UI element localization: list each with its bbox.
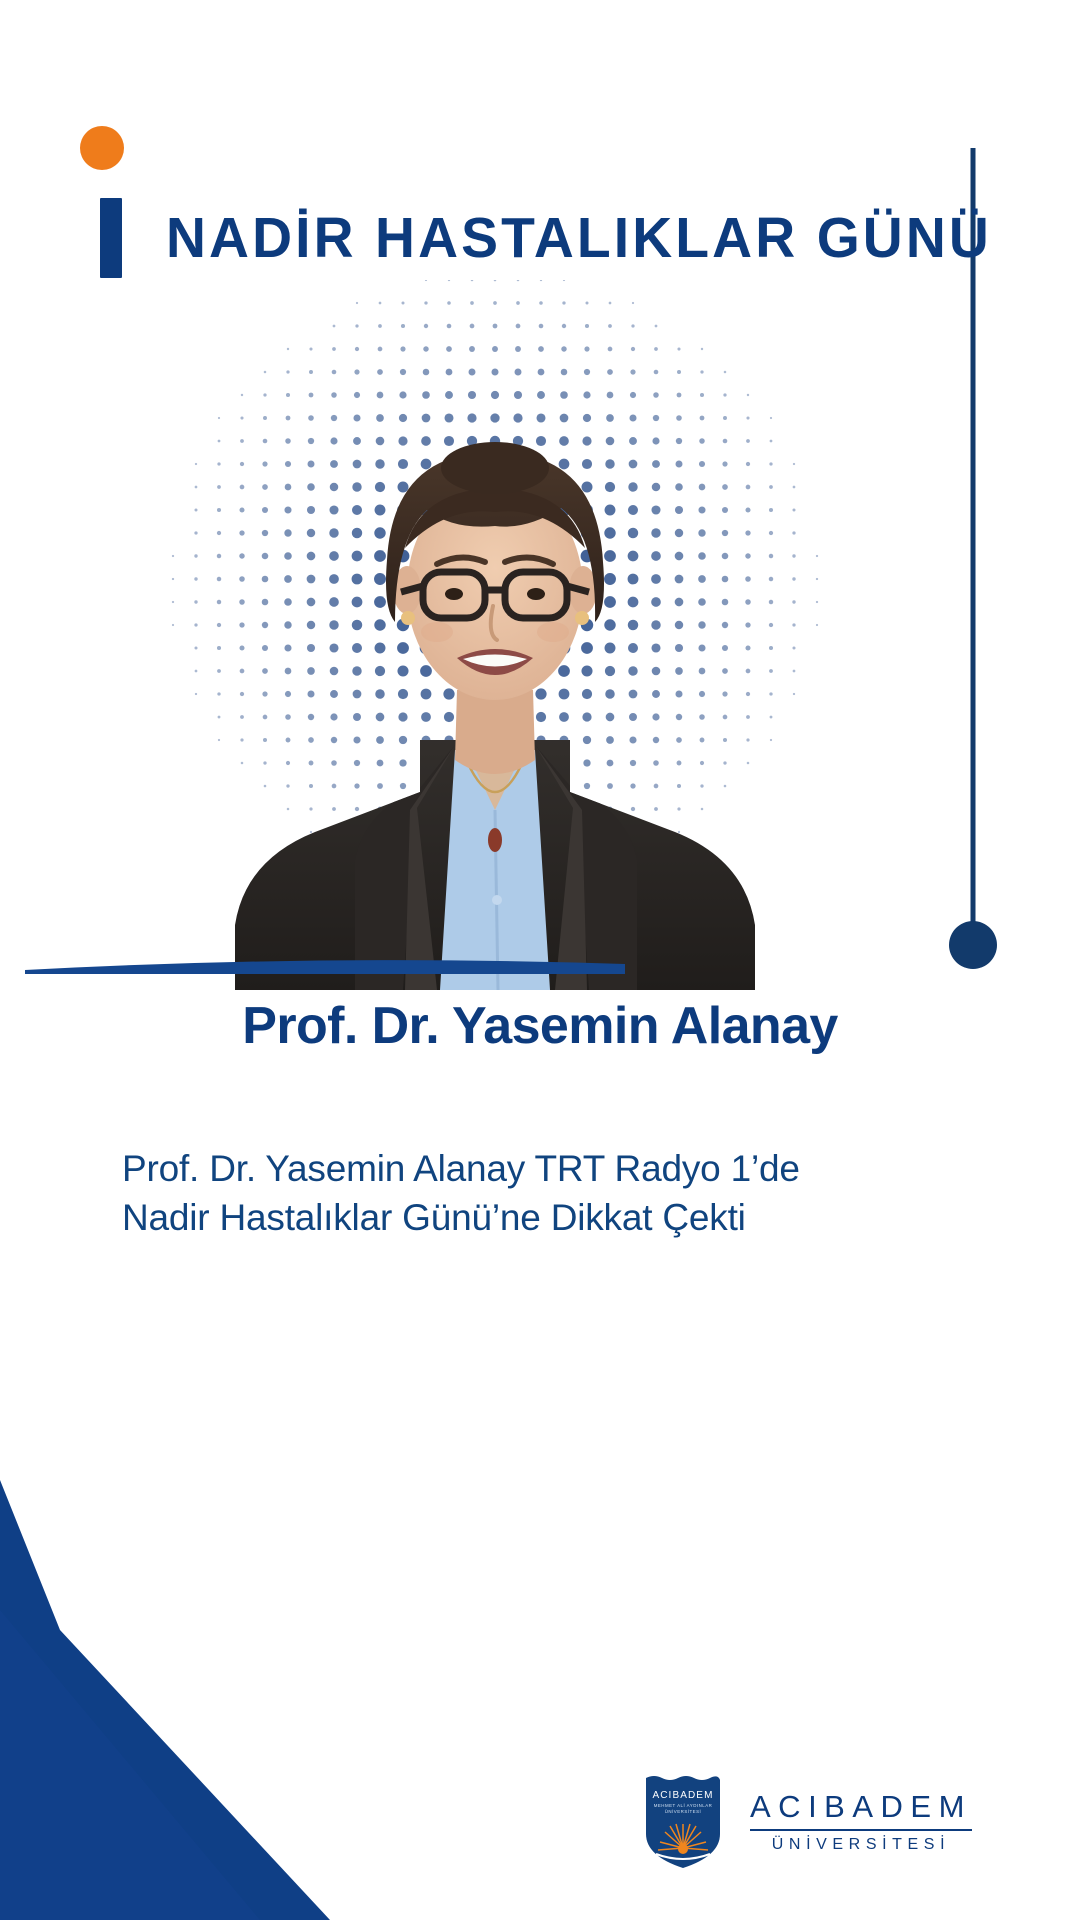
svg-text:ÜNİVERSİTESİ: ÜNİVERSİTESİ (665, 1809, 702, 1814)
navy-dot-icon (949, 921, 997, 969)
acibadem-logo: ACIBADEM MEHMET ALİ AYDINLAR ÜNİVERSİTES… (640, 1772, 972, 1872)
acibadem-crest-icon: ACIBADEM MEHMET ALİ AYDINLAR ÜNİVERSİTES… (640, 1772, 726, 1872)
description-text: Prof. Dr. Yasemin Alanay TRT Radyo 1’de … (122, 1145, 962, 1243)
page-title: NADİR HASTALIKLAR GÜNÜ (100, 198, 1017, 278)
wordmark-main-text: ACIBADEM (750, 1791, 972, 1822)
svg-text:ACIBADEM: ACIBADEM (652, 1790, 713, 1801)
svg-text:MEHMET ALİ AYDINLAR: MEHMET ALİ AYDINLAR (654, 1803, 713, 1808)
description-line-1: Prof. Dr. Yasemin Alanay TRT Radyo 1’de (122, 1145, 962, 1194)
person-name: Prof. Dr. Yasemin Alanay (0, 996, 1080, 1056)
title-accent-bar (100, 198, 122, 278)
portrait-underline (25, 958, 625, 974)
portrait-block (150, 280, 840, 980)
orange-dot-icon (80, 126, 124, 170)
wordmark-sub-text: ÜNİVERSİTESİ (772, 1837, 950, 1853)
page-title-text: NADİR HASTALIKLAR GÜNÜ (166, 210, 992, 267)
acibadem-wordmark: ACIBADEM ÜNİVERSİTESİ (750, 1791, 972, 1853)
description-line-2: Nadir Hastalıklar Günü’ne Dikkat Çekti (122, 1194, 962, 1243)
bottom-left-navy-shape (0, 1360, 460, 1920)
wordmark-divider (750, 1829, 972, 1831)
portrait-photo (205, 340, 785, 990)
